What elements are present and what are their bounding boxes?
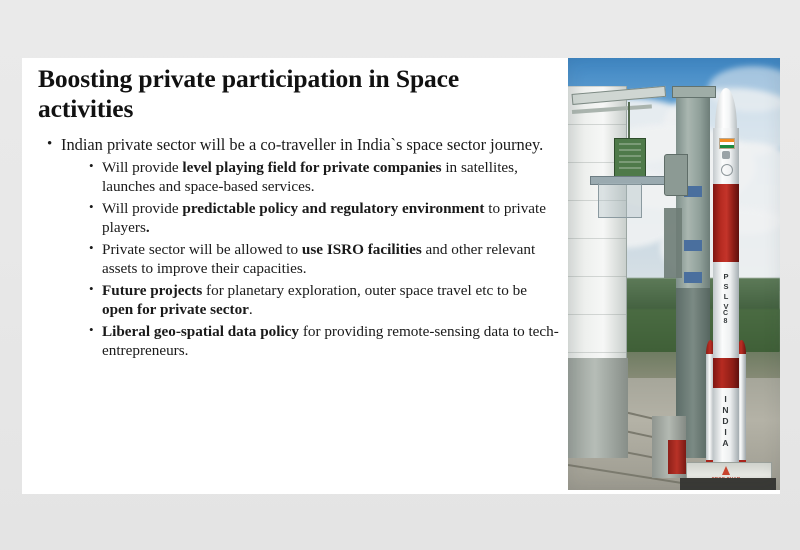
bullet-marker-icon: • bbox=[89, 321, 94, 338]
umbilical-arm-lower bbox=[664, 208, 682, 278]
bullet-emphasis: Liberal geo-spatial data policy bbox=[102, 323, 299, 340]
bullet-text: Will provide level playing field for pri… bbox=[102, 158, 560, 196]
bullet-emphasis: . bbox=[146, 219, 150, 236]
bullet-text: Indian private sector will be a co-trave… bbox=[61, 135, 560, 156]
tower-blue-panel bbox=[684, 272, 702, 283]
bullet-text: Future projects for planetary exploratio… bbox=[102, 281, 560, 319]
slide-text-column: Boosting private participation in Space … bbox=[30, 58, 560, 494]
rocket-serial-label: C8 bbox=[722, 310, 729, 326]
bullet-emphasis: predictable policy and regulatory enviro… bbox=[182, 200, 484, 217]
isro-mark-icon bbox=[722, 466, 730, 475]
bullet-emphasis: Future projects bbox=[102, 282, 202, 299]
bullet-run: Private sector will be allowed to bbox=[102, 241, 302, 258]
slide-panel: Boosting private participation in Space … bbox=[22, 58, 780, 494]
rocket-launch-photo: PSLV C8 INDIA SDSC SHAR bbox=[568, 58, 780, 490]
mobile-service-tower bbox=[568, 86, 627, 386]
bullet-emphasis: level playing field for private companie… bbox=[182, 159, 441, 176]
pad-red-structure bbox=[668, 440, 686, 474]
list-item: •Will provide level playing field for pr… bbox=[89, 158, 560, 196]
payload-fairing bbox=[715, 88, 737, 132]
screenshot-canvas: Boosting private participation in Space … bbox=[0, 0, 800, 550]
tower-panel-grid bbox=[568, 86, 626, 386]
rocket-country-label: INDIA bbox=[721, 394, 730, 449]
bullet-list: •Indian private sector will be a co-trav… bbox=[30, 135, 560, 360]
bullet-text: Private sector will be allowed to use IS… bbox=[102, 240, 560, 278]
pslv-rocket: PSLV C8 INDIA bbox=[708, 88, 744, 478]
rocket-vehicle-label: PSLV bbox=[722, 272, 730, 312]
bullet-run: . bbox=[249, 301, 253, 318]
tower-blue-panel bbox=[684, 240, 702, 251]
rocket-red-band bbox=[713, 184, 739, 262]
bullet-marker-icon: • bbox=[89, 157, 94, 174]
crane-truss bbox=[598, 183, 642, 218]
bullet-marker-icon: • bbox=[89, 239, 94, 256]
photo-scene: PSLV C8 INDIA SDSC SHAR bbox=[568, 58, 780, 490]
list-item: •Private sector will be allowed to use I… bbox=[89, 240, 560, 278]
bullet-run: Will provide bbox=[102, 159, 182, 176]
bullet-run: Will provide bbox=[102, 200, 182, 217]
bullet-marker-icon: • bbox=[89, 198, 94, 215]
rocket-red-band-2 bbox=[713, 358, 739, 388]
list-item: •Liberal geo-spatial data policy for pro… bbox=[89, 322, 560, 360]
list-item: •Will provide predictable policy and reg… bbox=[89, 199, 560, 237]
umbilical-arm bbox=[664, 154, 688, 196]
bullet-marker-icon: • bbox=[47, 135, 52, 154]
bullet-text: Liberal geo-spatial data policy for prov… bbox=[102, 322, 560, 360]
bullet-text: Will provide predictable policy and regu… bbox=[102, 199, 560, 237]
page-title: Boosting private participation in Space … bbox=[30, 58, 560, 123]
bullet-emphasis: open for private sector bbox=[102, 301, 249, 318]
list-item: •Future projects for planetary explorati… bbox=[89, 281, 560, 319]
rocket-emblem bbox=[722, 151, 730, 159]
bullet-run: for planetary exploration, outer space t… bbox=[202, 282, 527, 299]
india-flag-icon bbox=[719, 138, 735, 149]
crane-cable bbox=[628, 102, 630, 142]
bullet-emphasis: use ISRO facilities bbox=[302, 241, 422, 258]
sub-bullet-list: •Will provide level playing field for pr… bbox=[61, 158, 560, 360]
bullet-run: Indian private sector will be a co-trave… bbox=[61, 135, 543, 154]
crane-hoist bbox=[614, 138, 646, 178]
tower-base bbox=[568, 358, 628, 458]
bullet-marker-icon: • bbox=[89, 280, 94, 297]
list-item: •Indian private sector will be a co-trav… bbox=[47, 135, 560, 360]
pedestal-shadow bbox=[680, 478, 776, 490]
rocket-hatch-icon bbox=[721, 164, 733, 176]
